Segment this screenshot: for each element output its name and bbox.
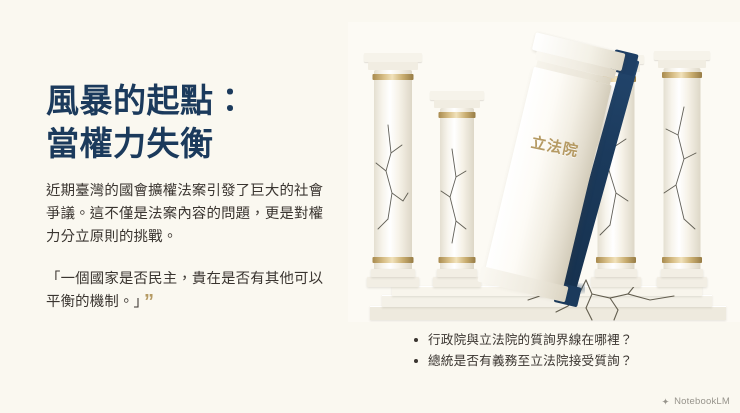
column-right-outer <box>654 51 710 287</box>
page-title: 風暴的起點： 當權力失衡 <box>46 80 336 166</box>
bullet-dot-icon <box>414 338 418 342</box>
slide-canvas: 風暴的起點： 當權力失衡 近期臺灣的國會擴權法案引發了巨大的社會爭議。這不僅是法… <box>0 0 740 413</box>
list-item-label: 行政院與立法院的質詢界線在哪裡？ <box>428 333 633 347</box>
list-item: 總統是否有義務至立法院接受質詢？ <box>414 351 633 372</box>
notebooklm-logo-icon <box>661 397 670 406</box>
quote-text: 「一個國家是否民主，貴在是否有其他可以平衡的機制。」 <box>46 271 323 310</box>
pedestal-step-bottom <box>370 306 726 320</box>
illustration-stage: 立法院 <box>348 22 740 322</box>
notebooklm-watermark: NotebookLM <box>661 396 730 407</box>
column-left-inner <box>430 91 484 287</box>
illustration-panel: 立法院 <box>348 22 740 322</box>
question-list: 行政院與立法院的質詢界線在哪裡？ 總統是否有義務至立法院接受質詢？ <box>414 330 633 373</box>
column-left-outer <box>364 53 422 287</box>
intro-paragraph: 近期臺灣的國會擴權法案引發了巨大的社會爭議。這不僅是法案內容的問題，更是對權力分… <box>46 180 336 250</box>
text-column: 風暴的起點： 當權力失衡 近期臺灣的國會擴權法案引發了巨大的社會爭議。這不僅是法… <box>46 80 336 314</box>
watermark-label: NotebookLM <box>674 396 730 407</box>
list-item: 行政院與立法院的質詢界線在哪裡？ <box>414 330 633 351</box>
pull-quote: 「一個國家是否民主，貴在是否有其他可以平衡的機制。」” <box>46 268 336 315</box>
bullet-dot-icon <box>414 359 418 363</box>
list-item-label: 總統是否有義務至立法院接受質詢？ <box>428 354 633 368</box>
quote-mark-icon: ” <box>144 291 153 313</box>
